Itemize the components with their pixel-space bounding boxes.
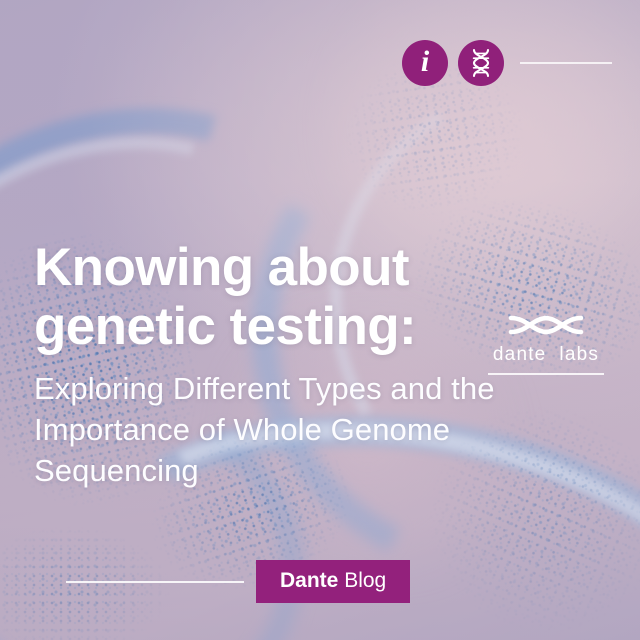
info-badge[interactable]: i <box>402 40 448 86</box>
dna-badge[interactable] <box>458 40 504 86</box>
dante-labs-wordmark: dante labs <box>488 344 604 366</box>
blog-badge-brand: Dante <box>280 569 338 592</box>
headline-line-2: genetic testing: <box>34 297 416 356</box>
blog-badge-label: Blog <box>338 569 386 592</box>
info-icon: i <box>421 47 429 77</box>
dante-labs-logo: dante labs <box>488 312 604 375</box>
dante-labs-helix-mark <box>507 312 585 338</box>
blog-cover-canvas: i Knowing aboutgenetic testing: Explorin… <box>0 0 640 640</box>
headline-block: Knowing aboutgenetic testing: Exploring … <box>34 238 554 491</box>
footer-row: Dante Blog <box>66 560 586 603</box>
logo-divider-rule <box>488 373 604 375</box>
headline-line-1: Knowing about <box>34 238 409 297</box>
footer-divider-rule <box>66 581 244 583</box>
page-subtitle: Exploring Different Types and the Import… <box>34 369 554 492</box>
dante-blog-badge[interactable]: Dante Blog <box>256 560 410 603</box>
top-badge-group: i <box>402 40 612 86</box>
dna-helix-icon <box>467 48 495 78</box>
top-divider-rule <box>520 62 612 64</box>
page-title: Knowing aboutgenetic testing: <box>34 238 554 357</box>
